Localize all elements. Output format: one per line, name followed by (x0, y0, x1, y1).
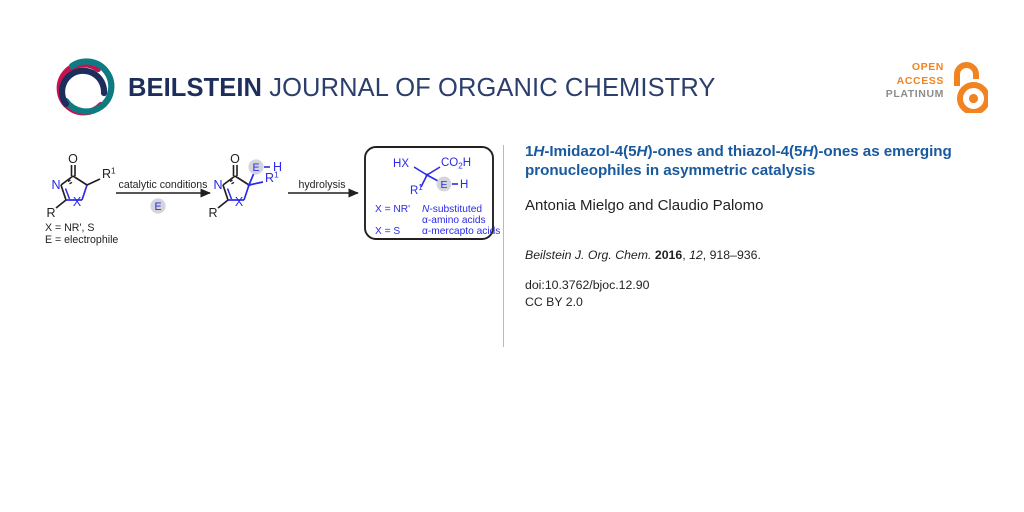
svg-text:R: R (208, 206, 217, 220)
svg-text:catalytic conditions: catalytic conditions (119, 179, 208, 191)
svg-text:X: X (73, 195, 82, 209)
svg-text:N: N (51, 178, 60, 192)
masthead: BEILSTEIN JOURNAL OF ORGANIC CHEMISTRY O… (0, 0, 1024, 132)
svg-text:O: O (68, 152, 78, 166)
scheme-structure-1: O N X R R1 (46, 152, 116, 220)
article-title[interactable]: 1H-Imidazol-4(5H)-ones and thiazol-4(5H)… (525, 142, 977, 180)
scheme-legend-line2: E = electrophile (45, 234, 118, 246)
article-license[interactable]: CC BY 2.0 (525, 294, 977, 311)
scheme-arrow-2: hydrolysis (288, 179, 358, 193)
wordmark-light: JOURNAL OF ORGANIC CHEMISTRY (262, 74, 715, 102)
title-seg-3: )-ones and thiazol-4(5 (647, 143, 802, 160)
beilstein-ring-logo-icon[interactable] (52, 56, 118, 122)
citation-year: 2016 (655, 248, 682, 262)
svg-text:α-amino acids: α-amino acids (422, 215, 486, 226)
citation-volume: 12 (689, 248, 703, 262)
scheme-structure-2: O N X R R1 E H (208, 152, 282, 220)
scheme-product-box: HX CO2H R1 E H X = NR' N-substituted α-a… (365, 147, 500, 239)
title-italic-3: H (802, 143, 813, 160)
wordmark-bold: BEILSTEIN (128, 74, 262, 102)
svg-text:H: H (273, 160, 282, 174)
open-access-text: OPEN ACCESS PLATINUM (886, 61, 944, 102)
open-access-badge[interactable]: OPEN ACCESS PLATINUM (876, 60, 988, 116)
scheme-legend-line1: X = NR', S (45, 222, 94, 234)
svg-text:O: O (230, 152, 240, 166)
svg-text:N: N (213, 178, 222, 192)
article-doi[interactable]: doi:10.3762/bjoc.12.90 (525, 277, 977, 294)
oa-line-platinum: PLATINUM (886, 88, 944, 102)
svg-text:hydrolysis: hydrolysis (298, 179, 345, 191)
svg-text:H: H (460, 179, 468, 191)
svg-text:E: E (154, 201, 161, 213)
scheme-arrow-1: catalytic conditions E (116, 179, 210, 214)
title-seg-2: -Imidazol-4(5 (544, 143, 636, 160)
article-citation: Beilstein J. Org. Chem. 2016, 12, 918–93… (525, 247, 977, 263)
content-divider (503, 145, 504, 347)
article-metadata: 1H-Imidazol-4(5H)-ones and thiazol-4(5H)… (525, 142, 977, 310)
svg-text:CO2H: CO2H (441, 157, 471, 171)
title-italic-2: H (637, 143, 648, 160)
citation-journal: Beilstein J. Org. Chem. (525, 248, 651, 262)
journal-wordmark: BEILSTEIN JOURNAL OF ORGANIC CHEMISTRY (128, 74, 716, 103)
svg-text:E: E (441, 180, 448, 191)
svg-text:α-mercapto acids: α-mercapto acids (422, 226, 500, 237)
svg-text:X = NR': X = NR' (375, 204, 410, 215)
svg-text:HX: HX (393, 158, 409, 170)
oa-line-access: ACCESS (886, 75, 944, 89)
svg-text:R: R (46, 206, 55, 220)
article-authors[interactable]: Antonia Mielgo and Claudio Palomo (525, 196, 977, 215)
graphical-abstract-scheme: O N X R R1 X = NR', S E = electrophile c… (40, 138, 500, 253)
title-italic-1: H (533, 143, 544, 160)
open-padlock-icon (948, 60, 988, 113)
svg-text:N-substituted: N-substituted (422, 204, 482, 215)
svg-text:X: X (235, 195, 244, 209)
svg-text:E: E (252, 162, 259, 174)
citation-pages: , 918–936. (703, 248, 761, 262)
svg-text:R1: R1 (102, 166, 116, 182)
svg-text:X = S: X = S (375, 226, 400, 237)
oa-line-open: OPEN (886, 61, 944, 75)
